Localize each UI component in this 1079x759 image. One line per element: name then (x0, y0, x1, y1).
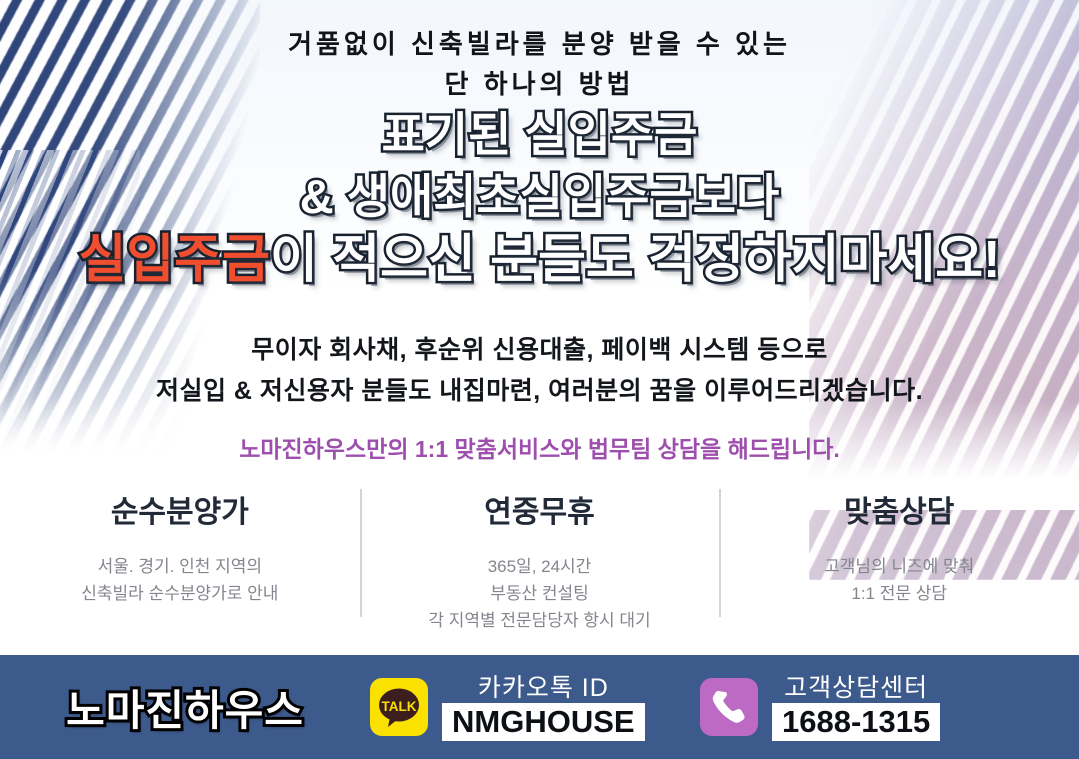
headline-line-1: 표기된 실입주금 (0, 104, 1079, 166)
feature-desc-line: 서울. 경기. 인천 지역의 (0, 553, 360, 580)
promo-banner: 거품없이 신축빌라를 분양 받을 수 있는 단 하나의 방법 표기된 실입주금 … (0, 0, 1079, 759)
contact-footer-bar: 노마진하우스 TALK 카카오톡 ID NMGHOUSE 고객 (0, 655, 1079, 759)
headline-accent-text: 실입주금 (79, 231, 270, 289)
feature-title: 연중무휴 (360, 487, 720, 531)
feature-description: 365일, 24시간 부동산 컨설팅 각 지역별 전문담당자 항시 대기 (360, 553, 720, 634)
kakaotalk-label: 카카오톡 ID (442, 673, 645, 703)
feature-columns: 순수분양가 서울. 경기. 인천 지역의 신축빌라 순수분양가로 안내 연중무휴… (0, 487, 1079, 627)
feature-desc-line: 신축빌라 순수분양가로 안내 (0, 580, 360, 607)
kakaotalk-contact[interactable]: TALK 카카오톡 ID NMGHOUSE (370, 673, 700, 741)
phone-label: 고객상담센터 (772, 673, 940, 703)
body-line-2: 저실입 & 저신용자 분들도 내집마련, 여러분의 꿈을 이루어드리겠습니다. (0, 371, 1079, 412)
kicker-text: 거품없이 신축빌라를 분양 받을 수 있는 단 하나의 방법 (0, 24, 1079, 104)
headline: 표기된 실입주금 & 생애최초실입주금보다 실입주금이 적으신 분들도 걱정하지… (0, 104, 1079, 292)
kakaotalk-icon[interactable]: TALK (370, 678, 428, 736)
feature-desc-line: 1:1 전문 상담 (719, 580, 1079, 607)
feature-desc-line: 각 지역별 전문담당자 항시 대기 (360, 607, 720, 634)
feature-desc-line: 고객님의 니즈에 맞춰 (719, 553, 1079, 580)
feature-description: 서울. 경기. 인천 지역의 신축빌라 순수분양가로 안내 (0, 553, 360, 607)
banner-content: 거품없이 신축빌라를 분양 받을 수 있는 단 하나의 방법 표기된 실입주금 … (0, 0, 1079, 759)
kakaotalk-text: 카카오톡 ID NMGHOUSE (442, 673, 645, 741)
phone-number-value: 1688-1315 (772, 703, 940, 741)
feature-desc-line: 부동산 컨설팅 (360, 580, 720, 607)
service-highlight-text: 노마진하우스만의 1:1 맞춤서비스와 법무팀 상담을 해드립니다. (0, 430, 1079, 464)
feature-title: 순수분양가 (0, 487, 360, 531)
body-copy: 무이자 회사채, 후순위 신용대출, 페이백 시스템 등으로 저실입 & 저신용… (0, 330, 1079, 412)
kakaotalk-id-value: NMGHOUSE (442, 703, 645, 741)
headline-line-2: & 생애최초실입주금보다 (0, 166, 1079, 228)
svg-text:TALK: TALK (382, 699, 417, 714)
kicker-line-2: 단 하나의 방법 (0, 64, 1079, 104)
headline-line-3-rest: 이 적으신 분들도 걱정하지마세요! (270, 231, 1000, 289)
brand-name: 노마진하우스 (0, 677, 370, 738)
feature-desc-line: 365일, 24시간 (360, 553, 720, 580)
feature-description: 고객님의 니즈에 맞춰 1:1 전문 상담 (719, 553, 1079, 607)
feature-column-open-year-round: 연중무휴 365일, 24시간 부동산 컨설팅 각 지역별 전문담당자 항시 대… (360, 487, 720, 627)
feature-title: 맞춤상담 (719, 487, 1079, 531)
feature-column-custom-consulting: 맞춤상담 고객님의 니즈에 맞춰 1:1 전문 상담 (719, 487, 1079, 627)
phone-contact[interactable]: 고객상담센터 1688-1315 (700, 673, 1060, 741)
feature-column-pure-price: 순수분양가 서울. 경기. 인천 지역의 신축빌라 순수분양가로 안내 (0, 487, 360, 627)
kicker-line-1: 거품없이 신축빌라를 분양 받을 수 있는 (0, 24, 1079, 64)
headline-line-3: 실입주금이 적으신 분들도 걱정하지마세요! (0, 228, 1079, 292)
phone-text: 고객상담센터 1688-1315 (772, 673, 940, 741)
body-line-1: 무이자 회사채, 후순위 신용대출, 페이백 시스템 등으로 (0, 330, 1079, 371)
phone-icon[interactable] (700, 678, 758, 736)
